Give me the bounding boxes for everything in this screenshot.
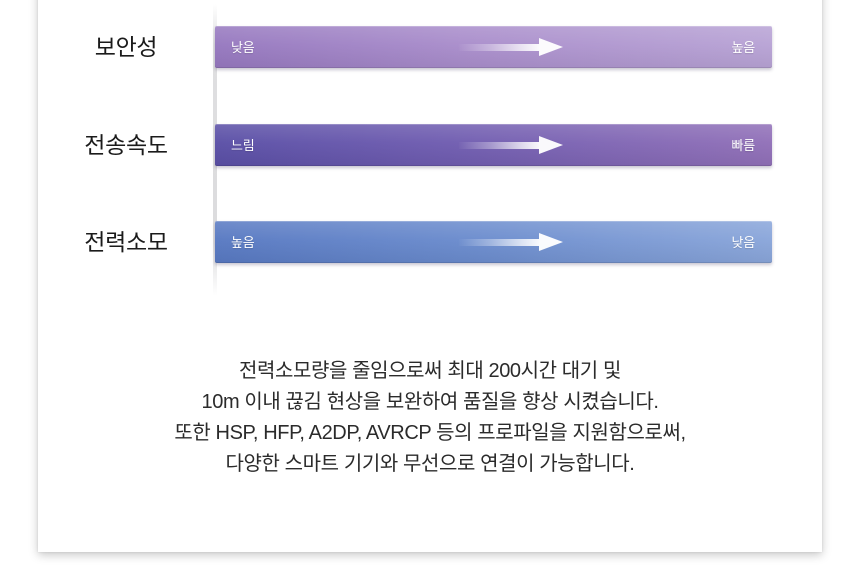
chart-bar-power-consumption: 높음 낮음 xyxy=(215,221,772,263)
chart-bar-right-label-transfer-speed: 빠름 xyxy=(731,124,755,166)
chart-bar-right-label-power-consumption: 낮음 xyxy=(731,221,755,263)
arrow-head xyxy=(539,38,563,56)
chart-bar-right-label-security: 높음 xyxy=(731,26,755,68)
chart-bar-transfer-speed: 느림 빠름 xyxy=(215,124,772,166)
chart-row-label-power-consumption: 전력소모 xyxy=(56,221,196,263)
right-arrow-icon xyxy=(459,38,563,56)
chart-row-power-consumption: 전력소모 높음 낮음 xyxy=(0,221,860,263)
chart-bar-security: 낮음 높음 xyxy=(215,26,772,68)
caption-line-2: 10m 이내 끊김 현상을 보완하여 품질을 향상 시켰습니다. xyxy=(0,387,860,418)
chart-row-security: 보안성 낮음 높음 xyxy=(0,26,860,68)
right-arrow-icon xyxy=(459,233,563,251)
right-arrow-icon xyxy=(459,136,563,154)
arrow-head xyxy=(539,136,563,154)
chart-row-label-transfer-speed: 전송속도 xyxy=(56,124,196,166)
screenshot-root: 보안성 낮음 높음 전송속도 느림 빠름 xyxy=(0,0,860,569)
chart-bar-left-label-power-consumption: 높음 xyxy=(231,221,255,263)
arrow-shaft xyxy=(459,44,539,51)
caption-line-1: 전력소모량을 줄임으로써 최대 200시간 대기 및 xyxy=(0,356,860,387)
caption-line-4: 다양한 스마트 기기와 무선으로 연결이 가능합니다. xyxy=(0,449,860,480)
chart-bar-left-label-security: 낮음 xyxy=(231,26,255,68)
arrow-head xyxy=(539,233,563,251)
chart-bar-left-label-transfer-speed: 느림 xyxy=(231,124,255,166)
caption-line-3: 또한 HSP, HFP, A2DP, AVRCP 등의 프로파일을 지원함으로써… xyxy=(0,418,860,449)
chart-row-label-security: 보안성 xyxy=(56,26,196,68)
chart-row-transfer-speed: 전송속도 느림 빠름 xyxy=(0,124,860,166)
arrow-shaft xyxy=(459,239,539,246)
caption-block: 전력소모량을 줄임으로써 최대 200시간 대기 및 10m 이내 끊김 현상을… xyxy=(0,356,860,480)
arrow-shaft xyxy=(459,142,539,149)
spec-comparison-chart: 보안성 낮음 높음 전송속도 느림 빠름 xyxy=(0,0,860,300)
